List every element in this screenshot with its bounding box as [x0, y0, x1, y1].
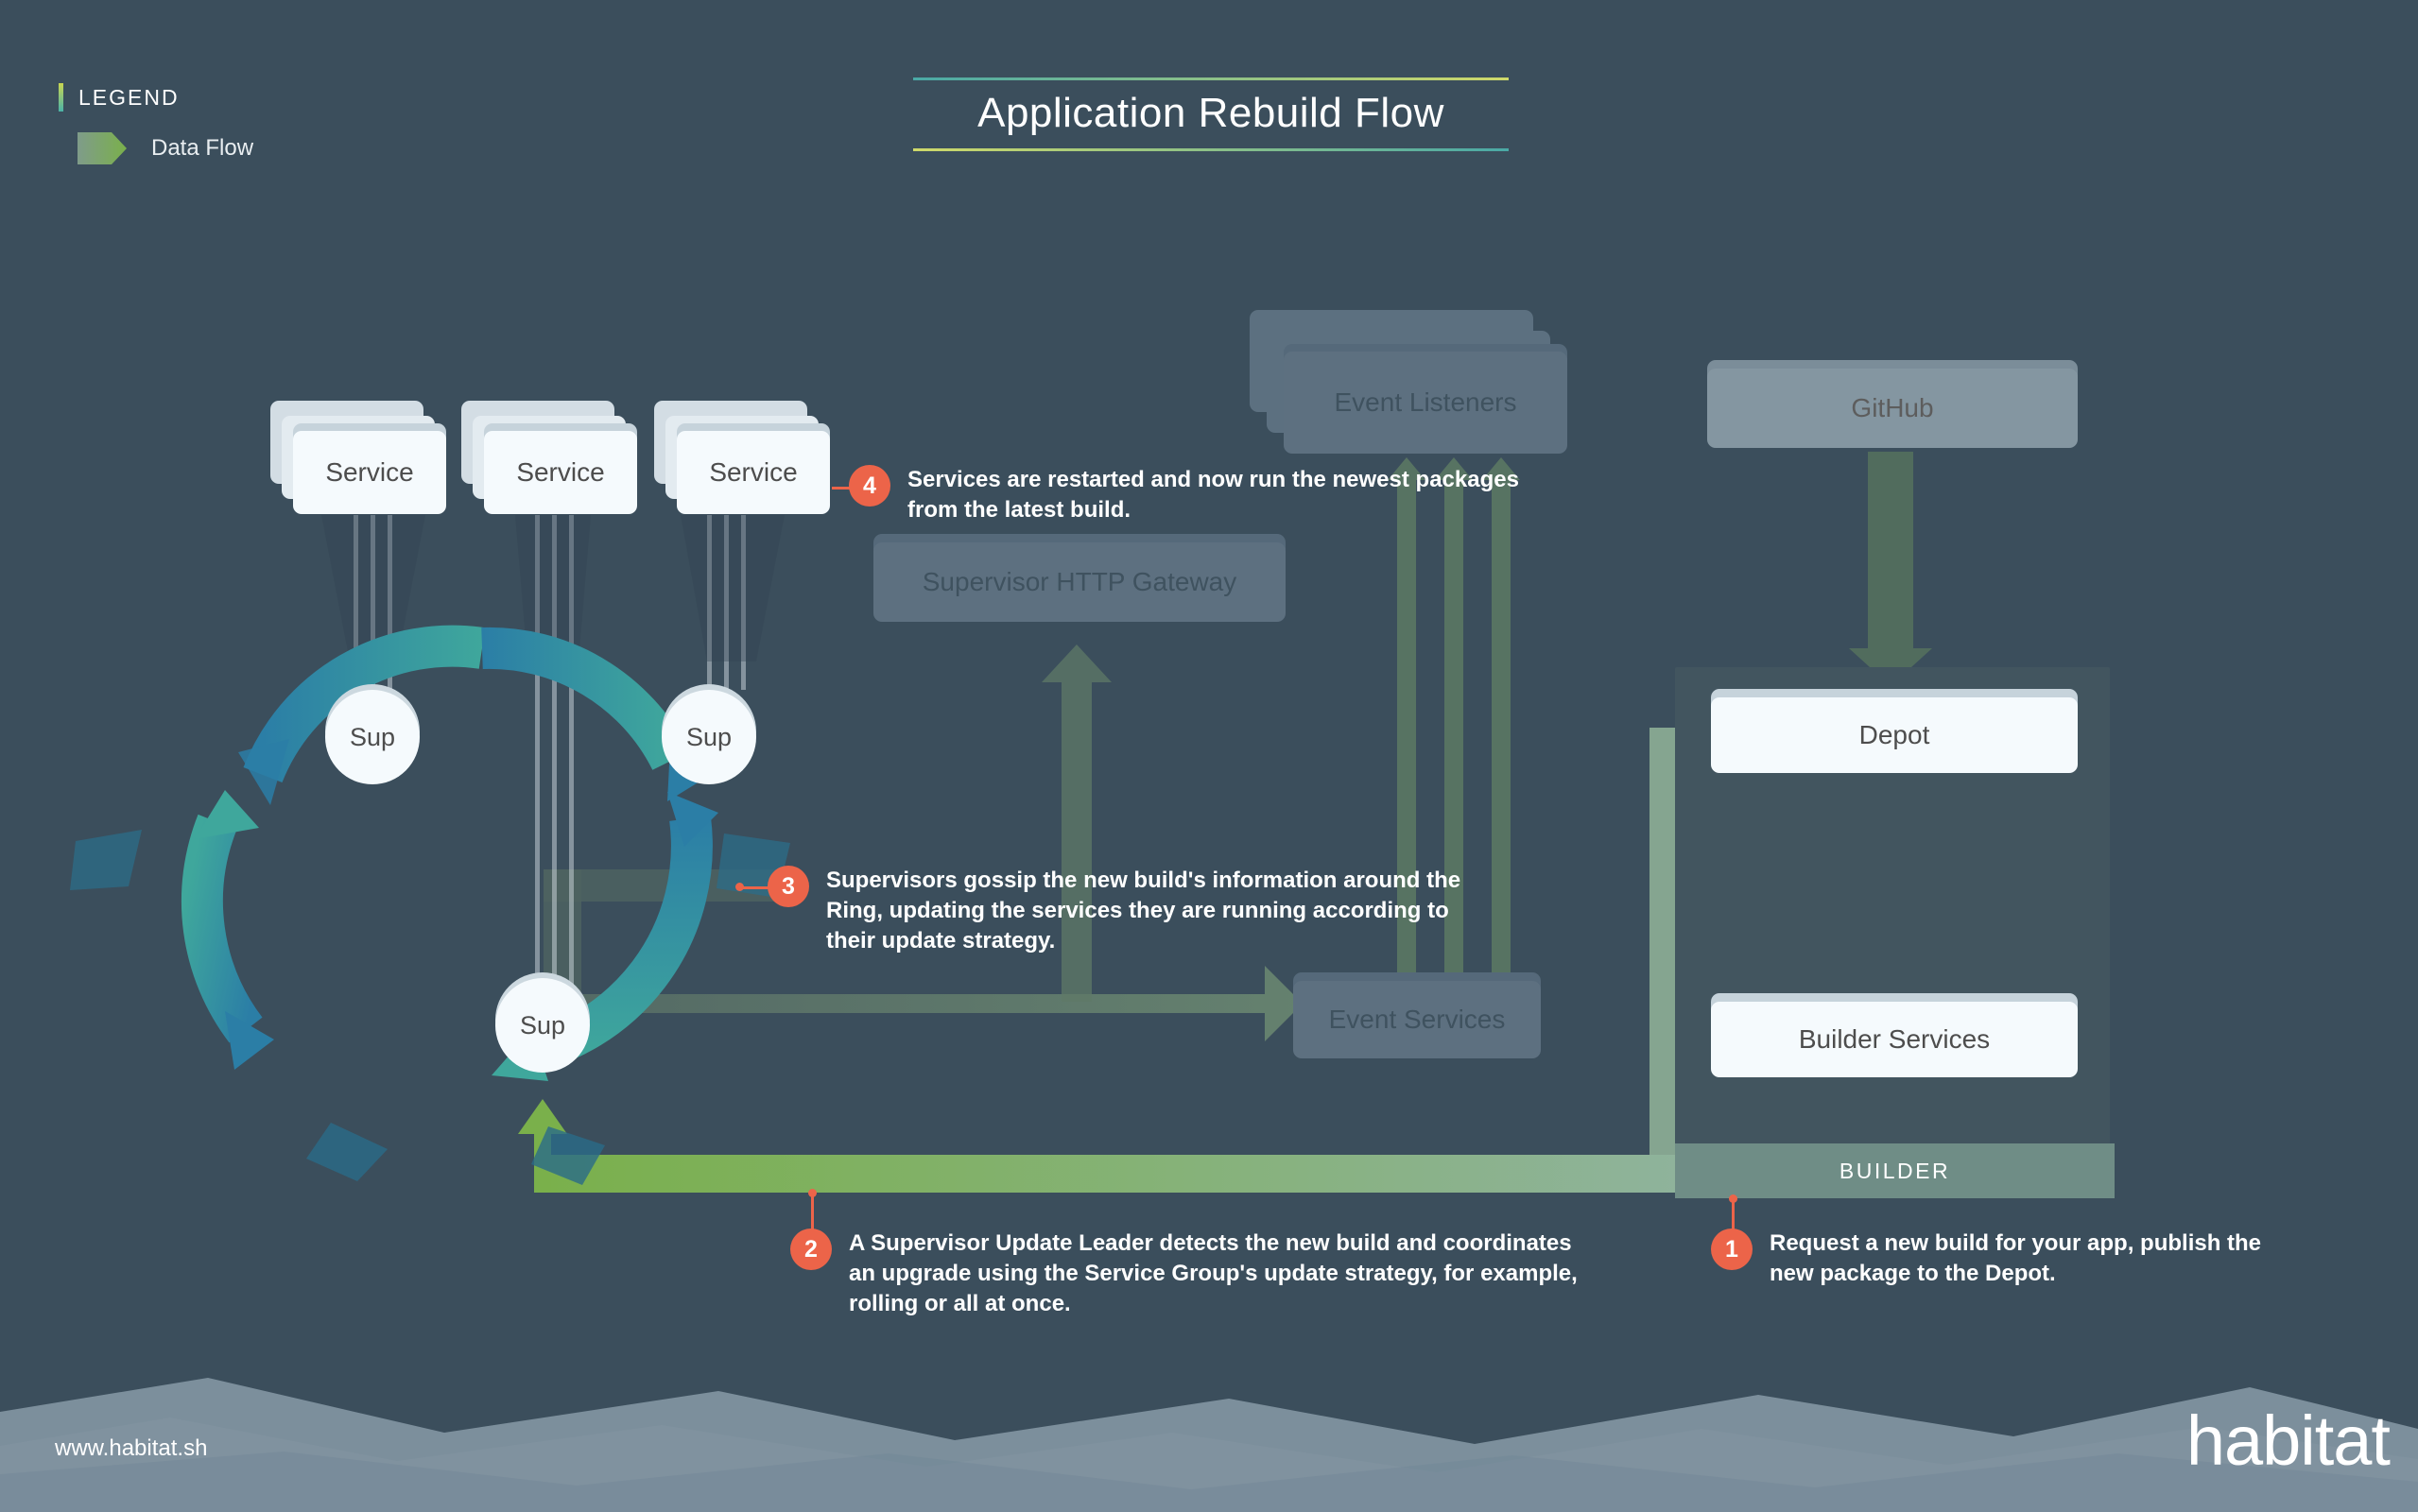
service-card-front: Service: [484, 431, 637, 514]
builder-bar-label: BUILDER: [1839, 1159, 1950, 1184]
callout-4: 4 Services are restarted and now run the…: [849, 465, 1567, 525]
callout-1: 1 Request a new build for your app, publ…: [1711, 1228, 2316, 1289]
github-node[interactable]: GitHub: [1707, 369, 2078, 448]
callout-3-text: Supervisors gossip the new build's infor…: [826, 866, 1460, 956]
event-services-node[interactable]: Event Services: [1293, 981, 1541, 1058]
service-label: Service: [709, 457, 797, 488]
diagram-canvas: LEGEND Data Flow Application Rebuild Flo…: [0, 0, 2418, 1512]
callout-2: 2 A Supervisor Update Leader detects the…: [790, 1228, 1622, 1319]
event-listeners-card-front: Event Listeners: [1284, 352, 1567, 454]
habitat-logo: habitat: [2186, 1400, 2390, 1481]
callout-4-text: Services are restarted and now run the n…: [907, 465, 1519, 525]
callout-3-badge: 3: [768, 866, 809, 907]
supervisor-node-left[interactable]: Sup: [325, 690, 420, 784]
callout-3-leader: [739, 886, 771, 889]
callout-4-badge: 4: [849, 465, 890, 507]
callout-3-leader-dot: [735, 883, 744, 891]
callout-2-leader-dot: [808, 1189, 817, 1197]
service-stack-3[interactable]: Service: [654, 401, 824, 514]
supervisor-http-gateway-label: Supervisor HTTP Gateway: [923, 567, 1237, 597]
flow-events-line-3: [1482, 457, 1520, 1002]
callout-2-badge: 2: [790, 1228, 832, 1270]
callout-1-text: Request a new build for your app, publis…: [1770, 1228, 2261, 1289]
service-card-front: Service: [293, 431, 446, 514]
service-card-front: Service: [677, 431, 830, 514]
site-url[interactable]: www.habitat.sh: [55, 1435, 207, 1462]
depot-label: Depot: [1859, 720, 1930, 750]
builder-footer-bar: BUILDER: [1675, 1143, 2115, 1198]
github-label: GitHub: [1851, 393, 1933, 423]
builder-services-label: Builder Services: [1799, 1024, 1990, 1055]
service-label: Service: [516, 457, 604, 488]
ring-arrow-top: [238, 646, 717, 805]
service-stack-1[interactable]: Service: [270, 401, 440, 514]
service-stack-2[interactable]: Service: [461, 401, 631, 514]
builder-services-node[interactable]: Builder Services: [1711, 1002, 2078, 1077]
event-listeners-stack[interactable]: Event Listeners: [1250, 310, 1590, 461]
supervisor-http-gateway-node[interactable]: Supervisor HTTP Gateway: [873, 542, 1286, 622]
supervisor-node-bottom[interactable]: Sup: [495, 978, 590, 1073]
callout-3: 3 Supervisors gossip the new build's inf…: [768, 866, 1486, 956]
depot-node[interactable]: Depot: [1711, 697, 2078, 773]
callout-1-badge: 1: [1711, 1228, 1753, 1270]
supervisor-label: Sup: [686, 723, 732, 752]
supervisor-label: Sup: [350, 723, 395, 752]
callout-2-text: A Supervisor Update Leader detects the n…: [849, 1228, 1578, 1319]
event-listeners-label: Event Listeners: [1335, 387, 1517, 418]
supervisor-node-right[interactable]: Sup: [662, 690, 756, 784]
ring-arrow-left: [195, 790, 274, 1070]
event-services-label: Event Services: [1329, 1005, 1506, 1035]
service-label: Service: [325, 457, 413, 488]
callout-1-leader-dot: [1729, 1194, 1737, 1203]
supervisor-label: Sup: [520, 1011, 565, 1040]
flow-github-to-builder: [1849, 452, 1932, 686]
